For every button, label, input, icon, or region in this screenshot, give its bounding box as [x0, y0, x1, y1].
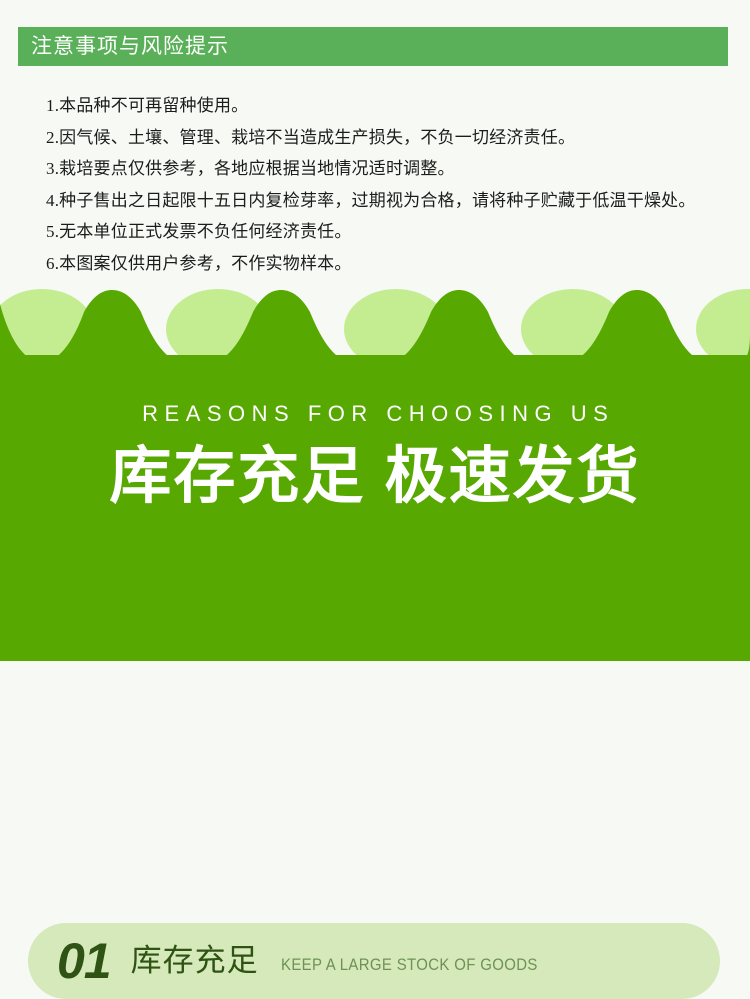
feature-subtitle: KEEP A LARGE STOCK OF GOODS [281, 955, 538, 975]
hero-headline-text: 库存充足 极速发货 [0, 438, 750, 516]
notice-list-item: 2.因气候、土壤、管理、栽培不当造成生产损失，不负一切经济责任。 [46, 122, 736, 154]
notice-list-item: 1.本品种不可再留种使用。 [46, 90, 736, 122]
hero-band: REASONS FOR CHOOSING US 库存充足 极速发货 01 库存充… [0, 355, 750, 661]
feature-title: 库存充足 [131, 943, 259, 979]
feature-number: 01 [57, 935, 111, 987]
notice-list: 1.本品种不可再留种使用。 2.因气候、土壤、管理、栽培不当造成生产损失，不负一… [46, 90, 736, 279]
notice-list-item: 5.无本单位正式发票不负任何经济责任。 [46, 216, 736, 248]
notice-list-item: 3.栽培要点仅供参考，各地应根据当地情况适时调整。 [46, 153, 736, 185]
feature-card-01: 01 库存充足 KEEP A LARGE STOCK OF GOODS [28, 923, 720, 999]
notice-section: 注意事项与风险提示 1.本品种不可再留种使用。 2.因气候、土壤、管理、栽培不当… [0, 0, 750, 300]
hero-eyebrow-text: REASONS FOR CHOOSING US [0, 400, 750, 428]
notice-header-title: 注意事项与风险提示 [31, 30, 229, 63]
notice-list-item: 6.本图案仅供用户参考，不作实物样本。 [46, 248, 736, 280]
notice-list-item: 4.种子售出之日起限十五日内复检芽率，过期视为合格，请将种子贮藏于低温干燥处。 [46, 185, 736, 217]
promo-page: 注意事项与风险提示 1.本品种不可再留种使用。 2.因气候、土壤、管理、栽培不当… [0, 0, 750, 661]
wave-divider-decoration [0, 282, 750, 362]
